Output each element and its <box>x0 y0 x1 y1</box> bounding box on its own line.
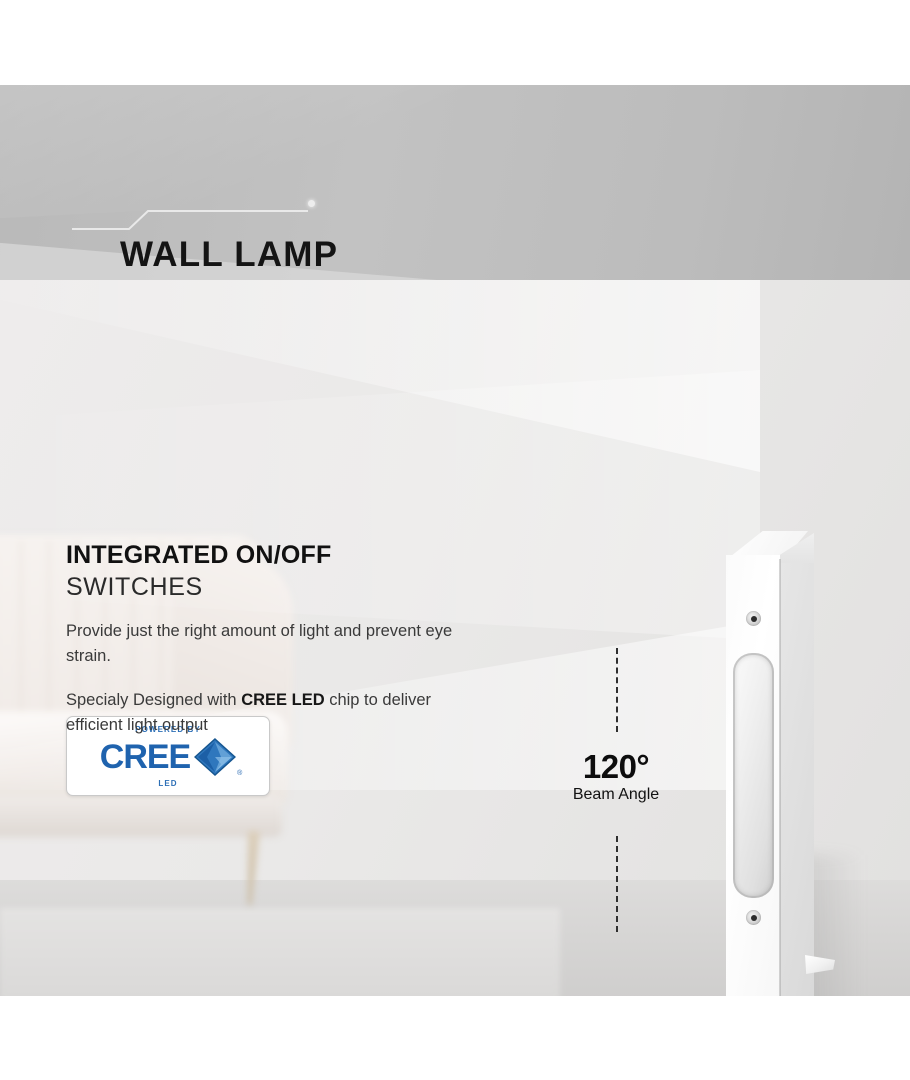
sofa-base <box>0 797 282 837</box>
beam-angle-label: Beam Angle <box>516 786 716 804</box>
cree-led-label: LED <box>67 779 269 788</box>
sofa-leg-right <box>244 831 260 906</box>
beam-angle-dashed-line-top <box>616 648 618 732</box>
lamp-screw-top-icon <box>746 611 761 626</box>
feature-paragraph-1: Provide just the right amount of light a… <box>66 619 466 669</box>
lamp-screw-bottom-icon <box>746 910 761 925</box>
page-title: WALL LAMP <box>120 237 338 272</box>
cree-diamond-icon: ® <box>194 738 236 776</box>
product-marketing-banner: WALL LAMP (SIDE LIGHT) POWERED BY <box>0 0 910 1080</box>
decorative-step-line-icon <box>72 203 312 237</box>
cree-brand-text: CREE <box>100 740 192 774</box>
feature-p2-before: Specialy Designed with <box>66 691 241 709</box>
beam-angle-callout: 120° Beam Angle <box>516 750 716 804</box>
feature-paragraph-2: Specialy Designed with CREE LED chip to … <box>66 688 466 738</box>
title-block: WALL LAMP (SIDE LIGHT) <box>120 237 338 280</box>
beam-angle-dashed-line-bottom <box>616 836 618 932</box>
bottom-white-band <box>0 996 910 1080</box>
cree-wordmark-row: CREE ® <box>67 737 269 777</box>
feature-p2-bold: CREE LED <box>241 691 324 709</box>
feature-heading-light: SWITCHES <box>66 572 466 602</box>
wall-lamp-product <box>700 280 910 995</box>
beam-angle-value: 120° <box>516 750 716 785</box>
lamp-side-face <box>780 563 814 996</box>
lamp-frosted-light-panel <box>735 655 772 896</box>
header-sheen <box>0 85 564 221</box>
header-banner: WALL LAMP (SIDE LIGHT) <box>0 85 910 280</box>
product-scene: POWERED BY CREE ® LED INTEGRATED ON <box>0 280 910 996</box>
feature-heading-bold: INTEGRATED ON/OFF <box>66 542 466 569</box>
top-white-band <box>0 0 910 85</box>
lamp-corner-edge <box>779 559 781 996</box>
cree-registered-mark: ® <box>237 770 242 777</box>
feature-copy-block: INTEGRATED ON/OFF SWITCHES Provide just … <box>66 542 466 738</box>
